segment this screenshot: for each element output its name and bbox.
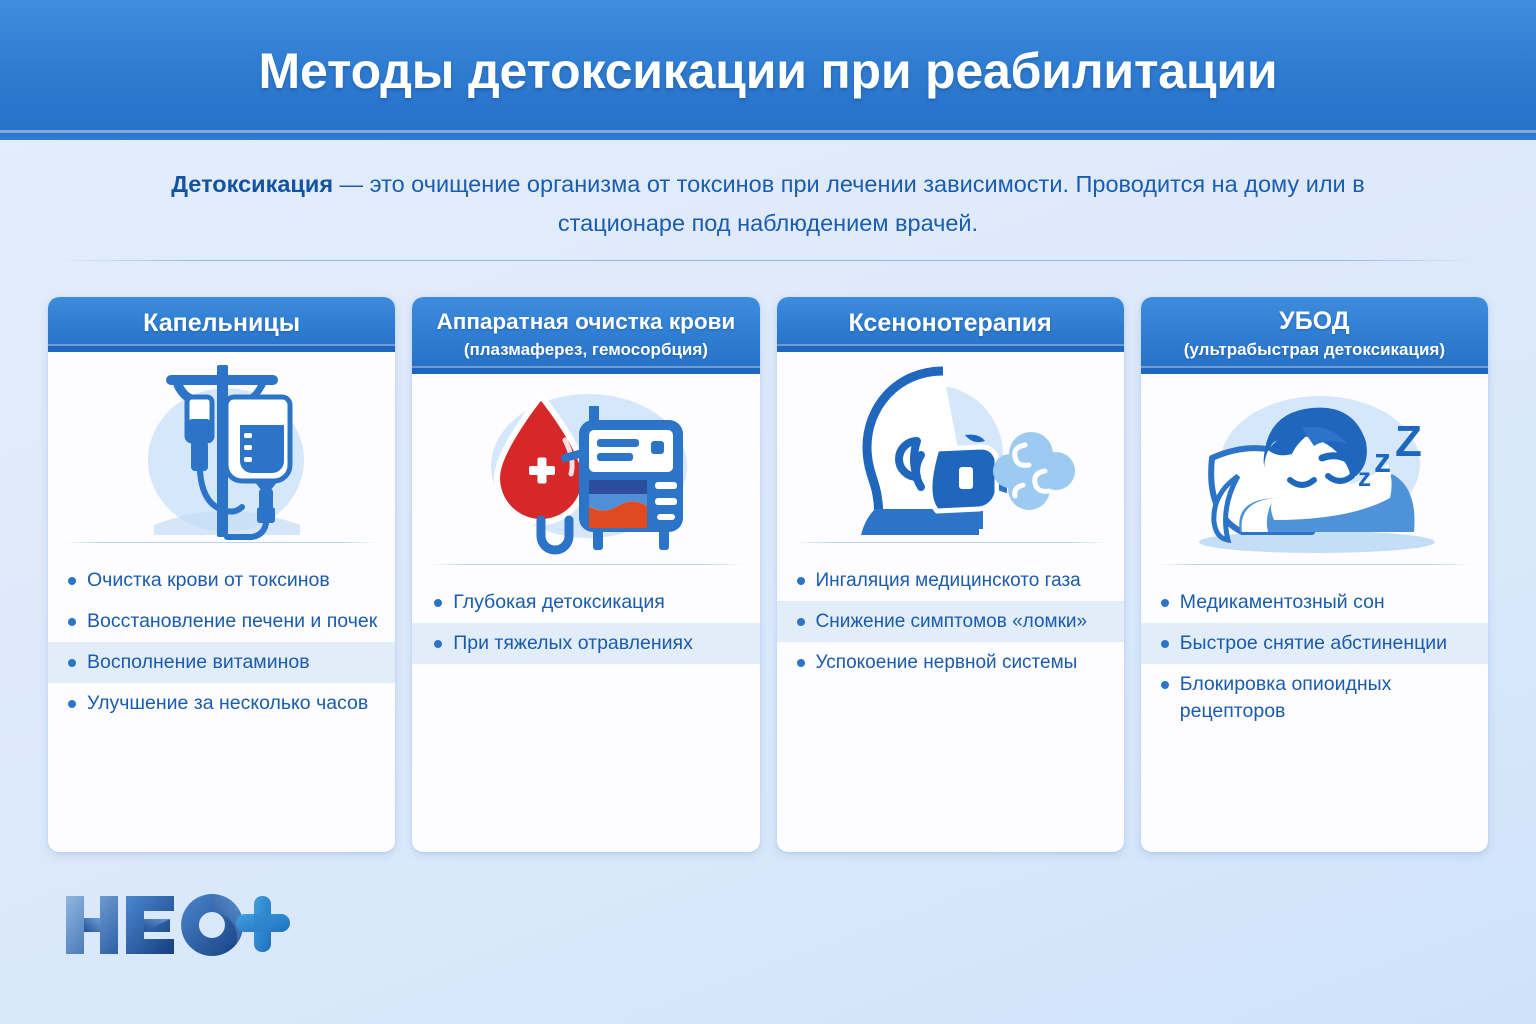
method-card-apparatus[interactable]: Аппаратная очистка крови (плазмаферез, г… [412, 297, 759, 852]
bullet-text: Снижение симптомов «ломки» [816, 608, 1106, 635]
header-divider [57, 260, 1479, 261]
benefit-list: Ингаляция медицинското газа Снижение сим… [777, 543, 1124, 852]
bullet-text: При тяжелых отравлениях [453, 630, 741, 657]
list-item: Улучшение за несколько часов [48, 683, 395, 724]
bullet-dot-icon [68, 618, 76, 626]
method-card-xenon[interactable]: Ксенонотерапия [777, 297, 1124, 852]
benefit-list: Очистка крови от токсинов Восстановление… [48, 543, 395, 852]
bullet-text: Ингаляция медицинското газа [816, 567, 1106, 594]
bullet-text: Восполнение витаминов [87, 649, 377, 676]
bullet-text: Медикаментозный сон [1180, 589, 1470, 616]
svg-text:z: z [1374, 442, 1391, 480]
page-title: Методы детоксикации при реабилитации [0, 42, 1536, 100]
list-item: Глубокая детоксикация [412, 582, 759, 623]
card-header-drip: Капельницы [48, 297, 395, 352]
bullet-text: Очистка крови от токсинов [87, 567, 377, 594]
list-item: Успокоение нервной системы [777, 642, 1124, 683]
card-subtitle: (ультрабыстрая детоксикация) [1151, 338, 1478, 361]
list-item: Блокировка опиоидных рецепторов [1141, 664, 1488, 732]
bullet-dot-icon [434, 599, 442, 607]
bullet-dot-icon [1161, 599, 1169, 607]
benefit-list: Медикаментозный сон Быстрое снятие абсти… [1141, 565, 1488, 852]
bullet-text: Восстановление печени и почек [87, 608, 377, 635]
method-card-ubod[interactable]: УБОД (ультрабыстрая детоксикация) [1141, 297, 1488, 852]
card-title: Капельницы [58, 308, 385, 339]
card-title: Ксенонотерапия [787, 308, 1114, 339]
list-item: Восстановление печени и почек [48, 601, 395, 642]
bullet-dot-icon [68, 700, 76, 708]
bullet-dot-icon [1161, 640, 1169, 648]
page-header: Методы детоксикации при реабилитации [0, 0, 1536, 140]
bullet-text: Улучшение за несколько часов [87, 690, 377, 717]
card-title: Аппаратная очистка крови [422, 306, 749, 337]
method-card-drip[interactable]: Капельницы [48, 297, 395, 852]
list-item: Медикаментозный сон [1141, 582, 1488, 623]
bullet-dot-icon [797, 659, 805, 667]
bullet-text: Быстрое снятие абстиненции [1180, 630, 1470, 657]
methods-card-grid: Капельницы [48, 297, 1488, 852]
bullet-text: Успокоение нервной системы [816, 649, 1106, 676]
card-title: УБОД [1151, 306, 1478, 337]
iv-drip-icon [48, 352, 395, 542]
list-item: Ингаляция медицинското газа [777, 560, 1124, 601]
bullet-dot-icon [797, 618, 805, 626]
list-item-highlighted: Восполнение витаминов [48, 642, 395, 683]
subtitle-lead: Детоксикация [171, 171, 333, 197]
benefit-list: Глубокая детоксикация При тяжелых отравл… [412, 565, 759, 852]
card-header-apparatus: Аппаратная очистка крови (плазмаферез, г… [412, 297, 759, 374]
bullet-dot-icon [797, 577, 805, 585]
sleeping-patient-icon: z z Z [1141, 374, 1488, 564]
bullet-dot-icon [68, 659, 76, 667]
bullet-text: Глубокая детоксикация [453, 589, 741, 616]
bullet-dot-icon [1161, 681, 1169, 689]
card-subtitle: (плазмаферез, гемосорбция) [422, 338, 749, 361]
bullet-dot-icon [68, 577, 76, 585]
card-header-xenon: Ксенонотерапия [777, 297, 1124, 352]
bullet-dot-icon [434, 640, 442, 648]
list-item-highlighted: Снижение симптомов «ломки» [777, 601, 1124, 642]
brand-logo[interactable] [60, 888, 300, 960]
list-item-highlighted: При тяжелых отравлениях [412, 623, 759, 664]
subtitle-rest: — это очищение организма от токсинов при… [333, 171, 1365, 236]
svg-text:Z: Z [1395, 417, 1422, 466]
list-item: Очистка крови от токсинов [48, 560, 395, 601]
blood-dialysis-icon [412, 374, 759, 564]
card-header-ubod: УБОД (ультрабыстрая детоксикация) [1141, 297, 1488, 374]
list-item-highlighted: Быстрое снятие абстиненции [1141, 623, 1488, 664]
subtitle-text: Детоксикация — это очищение организма от… [160, 165, 1376, 243]
oxygen-mask-head-icon [777, 352, 1124, 542]
bullet-text: Блокировка опиоидных рецепторов [1180, 671, 1470, 725]
svg-text:z: z [1358, 462, 1371, 492]
